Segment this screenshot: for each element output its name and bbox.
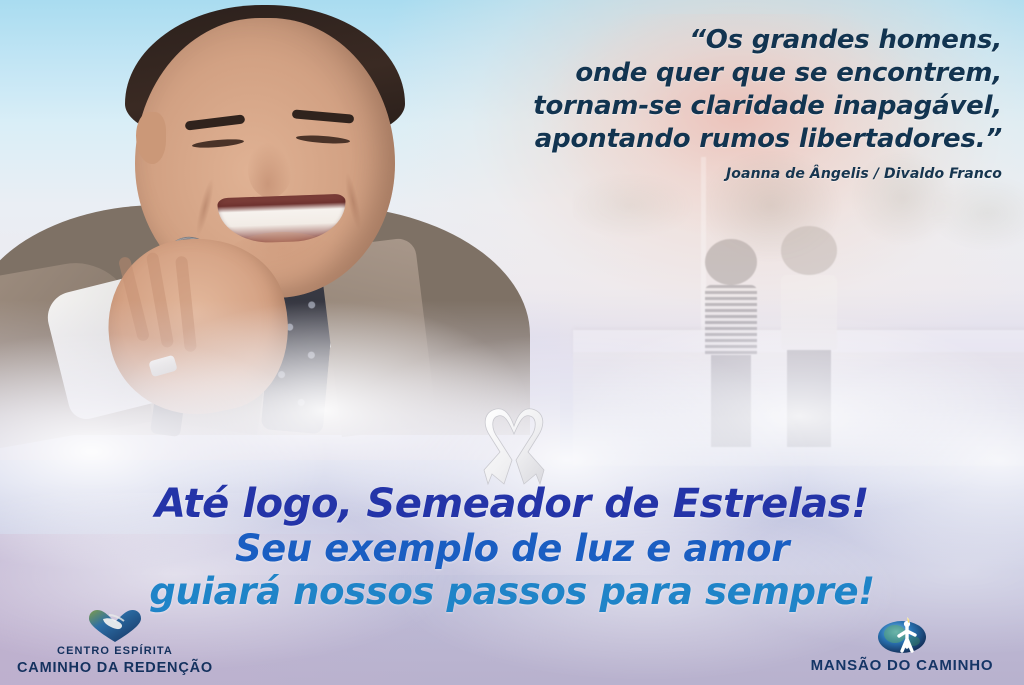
portrait-nose — [248, 142, 292, 198]
figure-head — [705, 239, 757, 285]
quote-attribution: Joanna de Ângelis / Divaldo Franco — [442, 166, 1002, 182]
logo-mansao-do-caminho: MANSÃO DO CAMINHO — [790, 617, 1014, 675]
figure-head — [781, 226, 838, 275]
logo-centro-espirita: CENTRO ESPÍRITA CAMINHO DA REDENÇÃO — [8, 609, 222, 677]
quote-line-1: “Os grandes homens, — [442, 24, 1002, 57]
quote-block: “Os grandes homens, onde quer que se enc… — [442, 24, 1002, 182]
headline-line-3: guiará nossos passos para sempre! — [0, 573, 1024, 610]
headline-line-2: Seu exemplo de luz e amor — [0, 530, 1024, 567]
logo-left-line-1: CENTRO ESPÍRITA — [8, 645, 222, 659]
headline-line-1: Até logo, Semeador de Estrelas! — [0, 484, 1024, 524]
memorial-poster: “Os grandes homens, onde quer que se enc… — [0, 0, 1024, 685]
logo-right-line-1: MANSÃO DO CAMINHO — [790, 657, 1014, 675]
quote-line-3: tornam-se claridade inapagável, — [442, 90, 1002, 123]
globe-figure-flame-icon — [877, 617, 927, 655]
portrait-ear — [136, 112, 166, 164]
logo-left-line-2: CAMINHO DA REDENÇÃO — [8, 659, 222, 677]
heart-hands-icon — [87, 609, 143, 643]
quote-line-2: onde quer que se encontrem, — [442, 57, 1002, 90]
white-awareness-ribbon-icon — [478, 408, 550, 488]
quote-line-4: apontando rumos libertadores.” — [442, 123, 1002, 156]
headline-block: Até logo, Semeador de Estrelas! Seu exem… — [0, 484, 1024, 610]
